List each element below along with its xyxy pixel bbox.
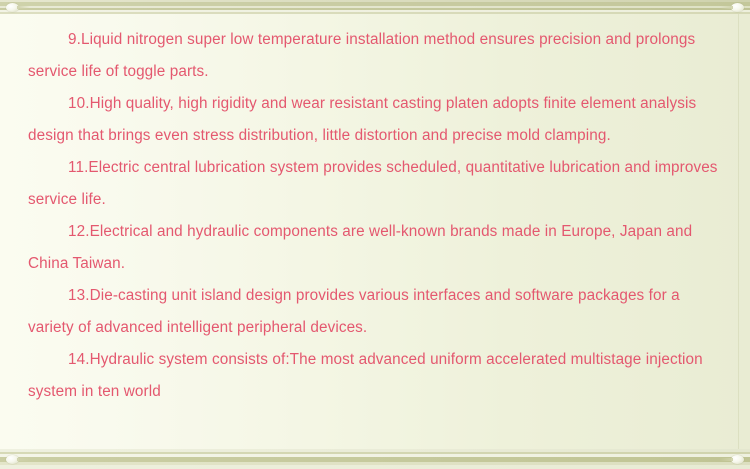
feature-list-body: 9.Liquid nitrogen super low temperature …	[0, 14, 750, 449]
feature-paragraph: 13.Die-casting unit island design provid…	[28, 280, 720, 344]
border-stripe	[0, 465, 750, 469]
feature-paragraph: 14.Hydraulic system consists of:The most…	[28, 344, 720, 408]
feature-paragraph: 9.Liquid nitrogen super low temperature …	[28, 24, 720, 88]
feature-list-panel: 9.Liquid nitrogen super low temperature …	[0, 0, 750, 469]
ornamental-bottom-border	[0, 449, 750, 469]
ornamental-top-border	[0, 0, 750, 14]
feature-paragraph: 12.Electrical and hydraulic components a…	[28, 216, 720, 280]
feature-paragraph: 11.Electric central lubrication system p…	[28, 152, 720, 216]
feature-paragraph: 10.High quality, high rigidity and wear …	[28, 88, 720, 152]
